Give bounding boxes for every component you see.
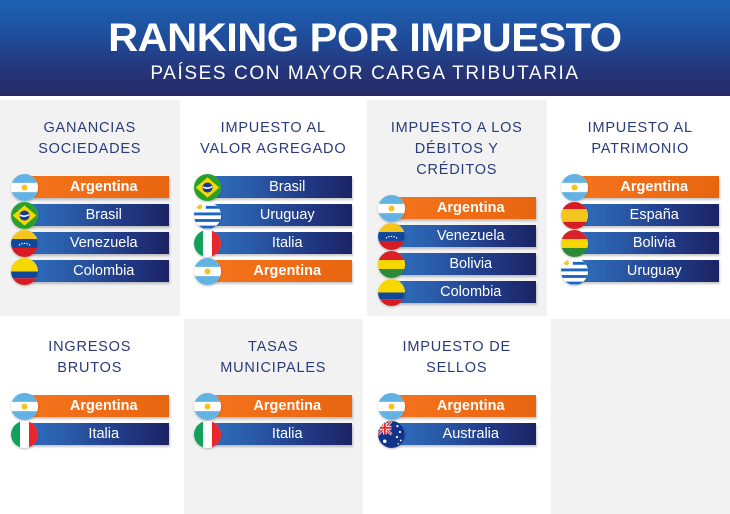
rank-bar: Bolivia xyxy=(392,253,536,275)
country-rank-row[interactable]: Uruguay xyxy=(561,260,719,282)
rank-bar: Brasil xyxy=(208,176,352,198)
flag-argentina-icon xyxy=(11,174,38,201)
tax-category-title: IMPUESTO DE SELLOS xyxy=(403,337,511,379)
tax-category-cell: IMPUESTO AL VALOR AGREGADOBrasil Uruguay… xyxy=(184,100,364,316)
rank-bar: Uruguay xyxy=(208,204,352,226)
flag-italia-icon xyxy=(194,421,221,448)
country-ranking-list: Argentina Australia xyxy=(377,395,537,451)
country-label: Argentina xyxy=(423,399,505,414)
country-label: Brasil xyxy=(255,180,305,195)
country-rank-row[interactable]: Italia xyxy=(194,232,352,254)
country-ranking-list: Argentina Brasil Venezuela Colombia xyxy=(10,176,170,288)
country-label: Italia xyxy=(258,427,303,442)
rank-bar: Argentina xyxy=(25,395,169,417)
country-ranking-list: Argentina Italia xyxy=(10,395,170,451)
country-rank-row[interactable]: Venezuela xyxy=(378,225,536,247)
country-rank-row[interactable]: Argentina xyxy=(11,176,169,198)
country-label: Italia xyxy=(258,236,303,251)
flag-argentina-icon xyxy=(11,393,38,420)
flag-venezuela-icon xyxy=(378,223,405,250)
rank-bar: Italia xyxy=(208,232,352,254)
rank-bar: Italia xyxy=(208,423,352,445)
tax-category-cell: IMPUESTO AL PATRIMONIOArgentina España B… xyxy=(551,100,730,316)
rank-bar: Italia xyxy=(25,423,169,445)
rank-bar: Australia xyxy=(392,423,536,445)
tax-category-cell xyxy=(551,319,730,514)
country-label: Uruguay xyxy=(246,208,315,223)
flag-colombia-icon xyxy=(11,258,38,285)
rank-bar: Brasil xyxy=(25,204,169,226)
rank-bar: Venezuela xyxy=(25,232,169,254)
flag-brasil-icon xyxy=(11,202,38,229)
tax-category-title: IMPUESTO AL VALOR AGREGADO xyxy=(200,118,346,160)
tax-category-cell: IMPUESTO A LOS DÉBITOS Y CRÉDITOSArgenti… xyxy=(367,100,547,316)
country-label: Argentina xyxy=(56,180,138,195)
tax-category-cell: GANANCIAS SOCIEDADESArgentina Brasil Ven… xyxy=(0,100,180,316)
country-rank-row[interactable]: Brasil xyxy=(194,176,352,198)
country-rank-row[interactable]: Argentina xyxy=(378,395,536,417)
flag-uruguay-icon xyxy=(194,202,221,229)
country-rank-row[interactable]: Colombia xyxy=(378,281,536,303)
flag-espana-icon xyxy=(561,202,588,229)
page-subtitle: PAÍSES CON MAYOR CARGA TRIBUTARIA xyxy=(150,64,579,83)
country-rank-row[interactable]: Argentina xyxy=(194,260,352,282)
country-ranking-list: Brasil Uruguay Italia Argentina xyxy=(194,176,354,288)
rank-bar: Colombia xyxy=(392,281,536,303)
country-label: Uruguay xyxy=(613,264,682,279)
country-ranking-list: Argentina Italia xyxy=(194,395,354,451)
tax-category-cell: IMPUESTO DE SELLOSArgentina Australia xyxy=(367,319,547,514)
country-ranking-list: Argentina Venezuela Bolivia Colombia xyxy=(377,197,537,309)
infographic-page: RANKING POR IMPUESTO PAÍSES CON MAYOR CA… xyxy=(0,0,730,507)
country-rank-row[interactable]: Brasil xyxy=(11,204,169,226)
country-rank-row[interactable]: Uruguay xyxy=(194,204,352,226)
country-rank-row[interactable]: Italia xyxy=(11,423,169,445)
country-label: Argentina xyxy=(239,399,321,414)
country-rank-row[interactable]: Australia xyxy=(378,423,536,445)
country-label: Italia xyxy=(74,427,119,442)
tax-category-cell: INGRESOS BRUTOSArgentina Italia xyxy=(0,319,180,514)
flag-italia-icon xyxy=(194,230,221,257)
flag-argentina-icon xyxy=(378,195,405,222)
country-label: Colombia xyxy=(426,285,501,300)
rank-bar: Argentina xyxy=(575,176,719,198)
header-banner: RANKING POR IMPUESTO PAÍSES CON MAYOR CA… xyxy=(0,0,730,96)
flag-argentina-icon xyxy=(194,393,221,420)
tax-category-title: TASAS MUNICIPALES xyxy=(220,337,326,379)
country-rank-row[interactable]: Argentina xyxy=(11,395,169,417)
country-label: Argentina xyxy=(423,201,505,216)
flag-colombia-icon xyxy=(378,279,405,306)
tax-category-title: IMPUESTO AL PATRIMONIO xyxy=(588,118,693,160)
ranking-grid: GANANCIAS SOCIEDADESArgentina Brasil Ven… xyxy=(0,96,730,507)
country-rank-row[interactable]: Colombia xyxy=(11,260,169,282)
country-rank-row[interactable]: Venezuela xyxy=(11,232,169,254)
rank-bar: Uruguay xyxy=(575,260,719,282)
country-label: Brasil xyxy=(72,208,122,223)
country-rank-row[interactable]: Argentina xyxy=(194,395,352,417)
flag-italia-icon xyxy=(11,421,38,448)
tax-category-cell: TASAS MUNICIPALESArgentina Italia xyxy=(184,319,364,514)
country-rank-row[interactable]: Italia xyxy=(194,423,352,445)
country-label: Australia xyxy=(429,427,499,442)
rank-bar: Bolivia xyxy=(575,232,719,254)
flag-brasil-icon xyxy=(194,174,221,201)
country-label: Colombia xyxy=(59,264,134,279)
country-rank-row[interactable]: España xyxy=(561,204,719,226)
country-label: Argentina xyxy=(239,264,321,279)
rank-bar: Argentina xyxy=(25,176,169,198)
rank-bar: Venezuela xyxy=(392,225,536,247)
country-label: Bolivia xyxy=(435,257,492,272)
flag-argentina-icon xyxy=(561,174,588,201)
country-rank-row[interactable]: Bolivia xyxy=(561,232,719,254)
country-label: España xyxy=(616,208,679,223)
country-rank-row[interactable]: Argentina xyxy=(561,176,719,198)
flag-argentina-icon xyxy=(194,258,221,285)
tax-category-title: GANANCIAS SOCIEDADES xyxy=(38,118,141,160)
flag-argentina-icon xyxy=(378,393,405,420)
country-label: Argentina xyxy=(56,399,138,414)
rank-bar: Argentina xyxy=(392,395,536,417)
flag-venezuela-icon xyxy=(11,230,38,257)
rank-bar: Argentina xyxy=(392,197,536,219)
rank-bar: España xyxy=(575,204,719,226)
flag-bolivia-icon xyxy=(561,230,588,257)
country-ranking-list: Argentina España Bolivia Uruguay xyxy=(561,176,721,288)
rank-bar: Colombia xyxy=(25,260,169,282)
tax-category-title: IMPUESTO A LOS DÉBITOS Y CRÉDITOS xyxy=(377,118,537,181)
flag-bolivia-icon xyxy=(378,251,405,278)
country-rank-row[interactable]: Bolivia xyxy=(378,253,536,275)
country-label: Bolivia xyxy=(619,236,676,251)
flag-uruguay-icon xyxy=(561,258,588,285)
flag-australia-icon xyxy=(378,421,405,448)
country-label: Argentina xyxy=(606,180,688,195)
country-label: Venezuela xyxy=(423,229,505,244)
rank-bar: Argentina xyxy=(208,260,352,282)
country-rank-row[interactable]: Argentina xyxy=(378,197,536,219)
tax-category-title: INGRESOS BRUTOS xyxy=(48,337,131,379)
country-label: Venezuela xyxy=(56,236,138,251)
page-title: RANKING POR IMPUESTO xyxy=(108,18,622,58)
rank-bar: Argentina xyxy=(208,395,352,417)
